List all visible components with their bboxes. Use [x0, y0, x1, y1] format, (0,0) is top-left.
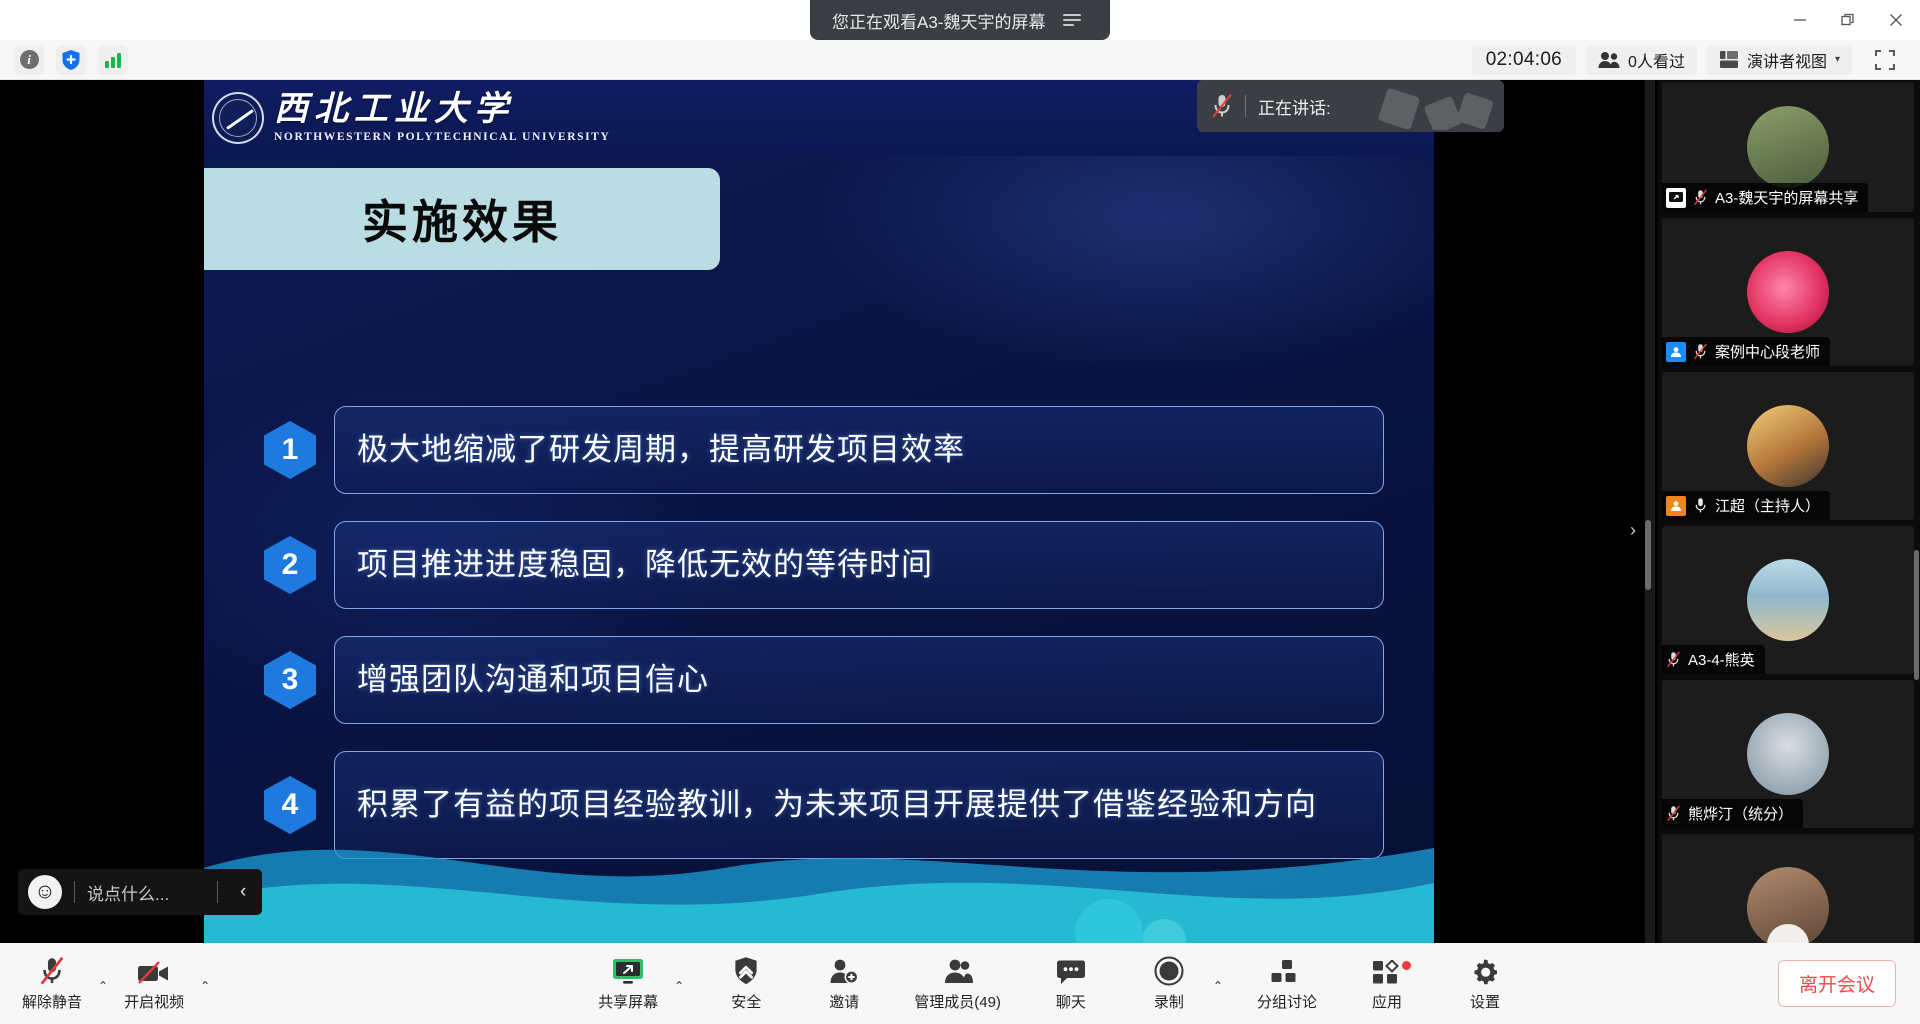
meeting-timer: 02:04:06: [1472, 45, 1576, 75]
unmute-label: 解除静音: [22, 991, 82, 1012]
manage-participants-button[interactable]: 管理成员(49): [906, 949, 1009, 1019]
shield-icon: [733, 956, 759, 986]
decorative-shape: [1376, 86, 1496, 130]
speaker-view-icon: [1719, 50, 1739, 69]
shared-screen-stage[interactable]: 西北工业大学 NORTHWESTERN POLYTECHNICAL UNIVER…: [0, 80, 1655, 943]
divider: [74, 881, 75, 903]
viewing-banner[interactable]: 您正在观看A3-魏天宇的屏幕: [810, 0, 1110, 40]
avatar: [1747, 713, 1829, 795]
avatar: [1747, 106, 1829, 188]
participant-name: 案例中心段老师: [1715, 341, 1820, 362]
apps-notification-badge: [1402, 961, 1411, 970]
viewers-count-label: 0人看过: [1628, 48, 1685, 72]
apps-icon: [1372, 956, 1402, 986]
record-options-caret-icon[interactable]: ⌃: [1205, 979, 1231, 993]
presentation-slide: 西北工业大学 NORTHWESTERN POLYTECHNICAL UNIVER…: [204, 80, 1434, 943]
window-controls: [1776, 0, 1920, 40]
panel-scrollbar-thumb[interactable]: [1645, 520, 1651, 590]
slide-bullet-item: 2 项目推进进度稳固，降低无效的等待时间: [264, 521, 1384, 609]
avatar: [1747, 251, 1829, 333]
leave-meeting-button[interactable]: 离开会议: [1778, 960, 1896, 1007]
bullet-number: 1: [264, 421, 316, 479]
slide-bullet-item: 1 极大地缩减了研发周期，提高研发项目效率: [264, 406, 1384, 494]
bullet-box: 增强团队沟通和项目信心: [334, 636, 1384, 724]
bullet-number: 3: [264, 651, 316, 709]
chat-icon: [1056, 956, 1086, 986]
video-options-caret-icon[interactable]: ⌃: [192, 979, 218, 993]
mic-muted-icon: [1693, 189, 1708, 206]
security-label: 安全: [731, 991, 761, 1012]
mic-muted-icon: [1666, 805, 1681, 822]
chevron-down-icon: ▾: [1835, 54, 1840, 65]
security-shield-button[interactable]: [56, 45, 86, 75]
university-name-cn: 西北工业大学: [274, 93, 610, 127]
breakout-rooms-button[interactable]: 分组讨论: [1249, 949, 1325, 1019]
network-quality-button[interactable]: [98, 45, 128, 75]
mic-muted-icon: [1666, 651, 1681, 668]
participant-name: A3-4-熊英: [1688, 649, 1755, 670]
view-mode-selector[interactable]: 演讲者视图 ▾: [1707, 45, 1852, 75]
participant-nameplate: 案例中心段老师: [1662, 337, 1830, 366]
bullet-number: 4: [264, 776, 316, 834]
signal-bars-icon: [105, 52, 121, 68]
invite-button[interactable]: 邀请: [808, 949, 880, 1019]
fullscreen-button[interactable]: [1862, 45, 1908, 75]
participant-name: 熊烨汀（统分）: [1688, 803, 1793, 824]
chat-label: 聊天: [1056, 991, 1086, 1012]
slide-bullet-list: 1 极大地缩减了研发周期，提高研发项目效率 2 项目推进进度稳固，降低无效的等待…: [264, 406, 1384, 886]
mic-muted-icon: [38, 956, 66, 986]
avatar: [1747, 405, 1829, 487]
apps-button[interactable]: 应用: [1351, 949, 1423, 1019]
chat-button[interactable]: 聊天: [1035, 949, 1107, 1019]
fullscreen-icon: [1874, 49, 1896, 71]
bullet-number: 2: [264, 536, 316, 594]
share-screen-button[interactable]: 共享屏幕: [590, 949, 666, 1019]
breakout-rooms-label: 分组讨论: [1257, 991, 1317, 1012]
bullet-box: 极大地缩减了研发周期，提高研发项目效率: [334, 406, 1384, 494]
screen-share-icon: [612, 956, 644, 986]
active-speaker-tooltip: 正在讲话:: [1197, 80, 1504, 132]
participant-name: A3-魏天宇的屏幕共享: [1715, 187, 1858, 208]
share-options-caret-icon[interactable]: ⌃: [666, 979, 692, 993]
manage-participants-label: 管理成员(49): [914, 991, 1001, 1012]
bullet-box: 积累了有益的项目经验教训，为未来项目开展提供了借鉴经验和方向: [334, 751, 1384, 859]
quick-chat-placeholder[interactable]: 说点什么...: [87, 880, 205, 905]
meeting-info-button[interactable]: i: [14, 45, 44, 75]
participant-nameplate: A3-魏天宇的屏幕共享: [1662, 183, 1868, 212]
participant-tile[interactable]: A3-魏天宇的屏幕共享: [1662, 82, 1914, 212]
participant-nameplate: 江超（主持人）: [1662, 491, 1830, 520]
invite-icon: [829, 956, 859, 986]
participant-name: 江超（主持人）: [1715, 495, 1820, 516]
viewers-count-button[interactable]: 0人看过: [1586, 45, 1697, 75]
viewing-banner-label: 您正在观看A3-魏天宇的屏幕: [832, 8, 1045, 33]
avatar: [1747, 559, 1829, 641]
mic-unmuted-icon: [1693, 497, 1708, 514]
bullet-text: 项目推进进度稳固，降低无效的等待时间: [357, 545, 933, 585]
settings-button[interactable]: 设置: [1449, 949, 1521, 1019]
apps-label: 应用: [1372, 991, 1402, 1012]
record-icon: [1154, 956, 1184, 986]
record-label: 录制: [1154, 991, 1184, 1012]
bullet-text: 积累了有益的项目经验教训，为未来项目开展提供了借鉴经验和方向: [357, 785, 1317, 825]
start-video-label: 开启视频: [124, 991, 184, 1012]
participant-tile[interactable]: ⌄: [1662, 834, 1914, 943]
minimize-button[interactable]: [1776, 0, 1824, 40]
gear-icon: [1471, 956, 1499, 986]
meeting-top-toolbar: i 02:04:06: [0, 40, 1920, 80]
people-icon: [1598, 51, 1620, 69]
divider: [1245, 95, 1246, 117]
slide-title-band: 实施效果: [204, 168, 720, 270]
view-mode-label: 演讲者视图: [1747, 48, 1827, 72]
emoji-icon[interactable]: ☺: [28, 875, 62, 909]
restore-button[interactable]: [1824, 0, 1872, 40]
divider: [217, 881, 218, 903]
active-speaker-label: 正在讲话:: [1258, 94, 1331, 119]
hamburger-icon[interactable]: [1063, 14, 1081, 26]
university-seal-icon: [212, 92, 264, 144]
participant-tile[interactable]: 江超（主持人）: [1662, 372, 1914, 520]
meeting-controls-bar: 解除静音 ⌃ 开启视频 ⌃: [0, 943, 1920, 1024]
participants-icon: [942, 956, 974, 986]
slide-bullet-item: 4 积累了有益的项目经验教训，为未来项目开展提供了借鉴经验和方向: [264, 751, 1384, 859]
person-badge-icon: [1666, 342, 1686, 362]
filmstrip-scrollbar-thumb[interactable]: [1914, 550, 1919, 680]
video-muted-icon: [137, 956, 171, 986]
breakout-rooms-icon: [1271, 956, 1303, 986]
university-name-en: NORTHWESTERN POLYTECHNICAL UNIVERSITY: [274, 132, 610, 144]
participant-tile[interactable]: 案例中心段老师: [1662, 218, 1914, 366]
title-bar: 您正在观看A3-魏天宇的屏幕: [0, 0, 1920, 40]
unmute-button[interactable]: 解除静音: [14, 949, 90, 1019]
start-video-button[interactable]: 开启视频: [116, 949, 192, 1019]
audio-options-caret-icon[interactable]: ⌃: [90, 979, 116, 993]
leave-meeting-label: 离开会议: [1799, 975, 1875, 996]
chevron-right-icon[interactable]: ›: [1630, 520, 1636, 541]
participant-tile[interactable]: 熊烨汀（统分）: [1662, 680, 1914, 828]
invite-label: 邀请: [829, 991, 859, 1012]
security-button[interactable]: 安全: [710, 949, 782, 1019]
record-button[interactable]: 录制: [1133, 949, 1205, 1019]
bullet-box: 项目推进进度稳固，降低无效的等待时间: [334, 521, 1384, 609]
bullet-text: 增强团队沟通和项目信心: [357, 660, 709, 700]
participants-filmstrip[interactable]: A3-魏天宇的屏幕共享 案例中心段老师: [1658, 80, 1920, 943]
mic-muted-icon: [1693, 343, 1708, 360]
quick-chat-input-bar[interactable]: ☺ 说点什么... ‹: [18, 869, 262, 915]
settings-label: 设置: [1470, 991, 1500, 1012]
chevron-left-icon[interactable]: ‹: [230, 881, 256, 903]
slide-bullet-item: 3 增强团队沟通和项目信心: [264, 636, 1384, 724]
info-icon: i: [20, 50, 39, 69]
share-screen-label: 共享屏幕: [598, 991, 658, 1012]
bullet-text: 极大地缩减了研发周期，提高研发项目效率: [357, 430, 965, 470]
participant-tile[interactable]: A3-4-熊英: [1662, 526, 1914, 674]
screen-share-icon: [1666, 188, 1686, 208]
mic-muted-icon: [1211, 93, 1233, 119]
shield-plus-icon: [61, 49, 81, 71]
host-badge-icon: [1666, 496, 1686, 516]
panel-scrollbar-track[interactable]: [1645, 80, 1655, 943]
participant-nameplate: 熊烨汀（统分）: [1662, 799, 1803, 828]
slide-title: 实施效果: [362, 186, 562, 252]
close-button[interactable]: [1872, 0, 1920, 40]
participant-nameplate: A3-4-熊英: [1662, 645, 1765, 674]
